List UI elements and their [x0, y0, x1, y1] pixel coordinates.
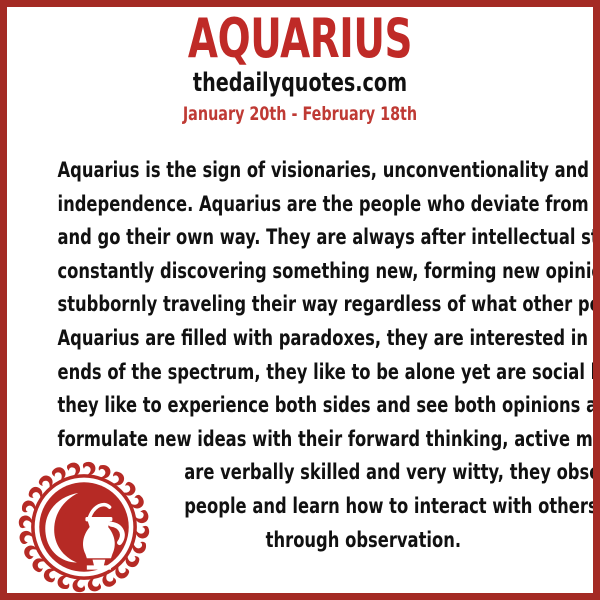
description-line: formulate new ideas with their forward t…: [57, 423, 542, 457]
description-line: and go their own way. They are always af…: [57, 221, 542, 255]
description-line: Aquarius are filled with paradoxes, they…: [57, 322, 542, 356]
page-title: AQUARIUS: [66, 11, 535, 67]
card-header: AQUARIUS thedailyquotes.com January 20th…: [7, 7, 593, 125]
description-line: Aquarius is the sign of visionaries, unc…: [57, 154, 542, 188]
description-line: independence. Aquarius are the people wh…: [57, 188, 542, 222]
description-line: constantly discovering something new, fo…: [57, 255, 542, 289]
description-line: ends of the spectrum, they like to be al…: [57, 356, 542, 390]
aquarius-water-bearer-icon: [13, 456, 155, 598]
date-range: January 20th - February 18th: [54, 104, 546, 125]
description-line: stubbornly traveling their way regardles…: [57, 288, 542, 322]
aquarius-zodiac-card: AQUARIUS thedailyquotes.com January 20th…: [0, 0, 600, 600]
description-line: they like to experience both sides and s…: [57, 389, 542, 423]
site-name: thedailyquotes.com: [60, 69, 541, 98]
